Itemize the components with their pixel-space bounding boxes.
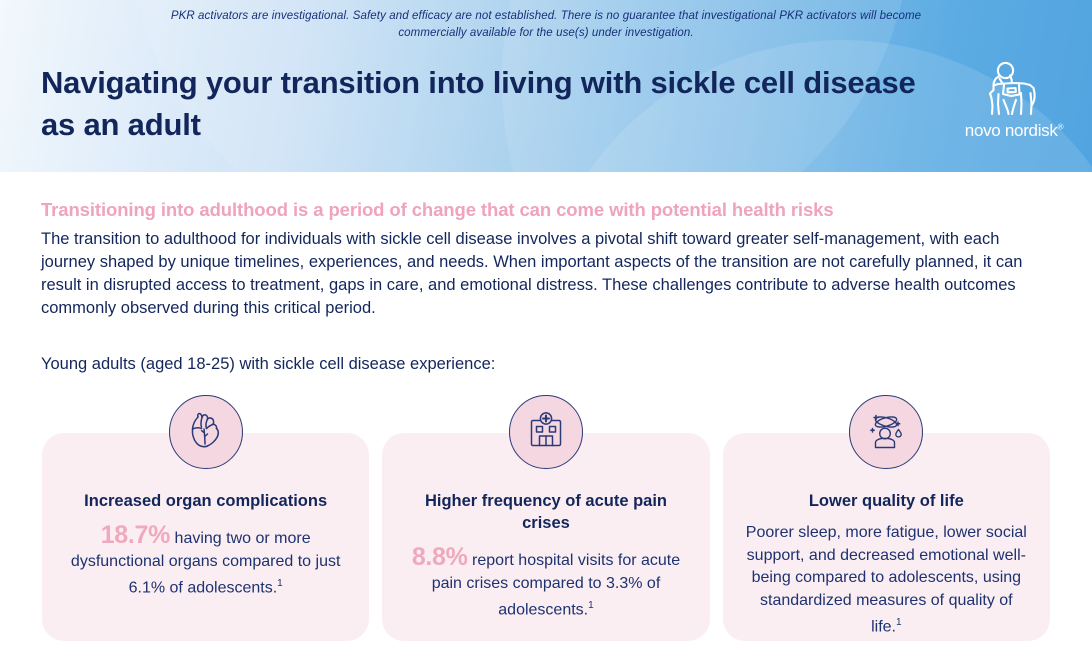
page-title: Navigating your transition into living w… [41, 62, 921, 146]
novo-nordisk-logo: novo nordisk® [958, 60, 1070, 146]
card-body: 8.8% report hospital visits for acute pa… [396, 546, 695, 622]
registered-mark: ® [1058, 122, 1064, 131]
stat-value: 18.7% [101, 521, 170, 549]
stat-card: Higher frequency of acute pain crises 8.… [382, 433, 709, 641]
stat-card-list: Increased organ complications 18.7% havi… [42, 433, 1050, 641]
lead-in-text: Young adults (aged 18-25) with sickle ce… [41, 353, 495, 376]
card-title: Increased organ complications [56, 490, 355, 512]
body-paragraph: The transition to adulthood for individu… [41, 228, 1046, 320]
footnote-marker: 1 [277, 578, 283, 589]
footnote-marker: 1 [896, 617, 902, 628]
logo-wordmark: novo nordisk® [965, 121, 1063, 141]
apis-bull-icon [978, 60, 1050, 120]
card-body: Poorer sleep, more fatigue, lower social… [737, 518, 1036, 639]
stat-card: Lower quality of life Poorer sleep, more… [723, 433, 1050, 641]
card-title: Lower quality of life [737, 490, 1036, 512]
hospital-building-icon [509, 395, 583, 469]
footnote-marker: 1 [588, 600, 594, 611]
stat-value: 8.8% [412, 543, 468, 571]
anatomical-heart-icon [169, 395, 243, 469]
stat-description: report hospital visits for acute pain cr… [432, 552, 680, 618]
investigational-disclaimer: PKR activators are investigational. Safe… [0, 8, 1092, 42]
section-heading: Transitioning into adulthood is a period… [41, 199, 834, 221]
card-title: Higher frequency of acute pain crises [396, 490, 695, 534]
page-header: PKR activators are investigational. Safe… [0, 0, 1092, 172]
page-root: PKR activators are investigational. Safe… [0, 0, 1092, 652]
person-distress-icon [849, 395, 923, 469]
stat-card: Increased organ complications 18.7% havi… [42, 433, 369, 641]
stat-description: Poorer sleep, more fatigue, lower social… [746, 524, 1027, 635]
card-body: 18.7% having two or more dysfunctional o… [56, 524, 355, 600]
